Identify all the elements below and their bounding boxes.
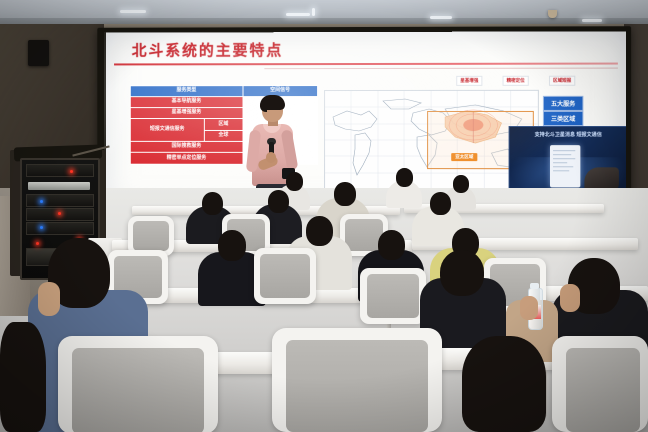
map-tag-top-1: 精密定位 xyxy=(503,76,529,86)
chair-front[interactable] xyxy=(58,336,218,432)
phone-icon xyxy=(550,145,580,187)
table-header-signal: 空间信号 xyxy=(243,86,318,97)
chair[interactable] xyxy=(360,268,426,324)
chair[interactable] xyxy=(254,248,316,304)
audience-head xyxy=(218,230,246,261)
audience-face xyxy=(560,284,580,312)
ceiling-light xyxy=(582,19,602,22)
audience-head xyxy=(440,250,484,296)
bottle-cap xyxy=(530,283,539,289)
audience-head xyxy=(430,192,451,215)
ceiling-light xyxy=(120,10,146,13)
audience-hand xyxy=(520,296,538,320)
projection-screen: 北斗系统的主要特点 服务类型 空间信号 基本导航服务 3IGSO+3GEO 星基… xyxy=(106,31,626,212)
audience-head xyxy=(396,168,413,187)
map-region-tag: 亚太区域 xyxy=(451,153,477,161)
rack-panel xyxy=(28,182,90,190)
cell-service: 国际搜救服务 xyxy=(130,141,242,152)
ceiling-light xyxy=(286,13,310,16)
ceiling-light xyxy=(312,8,315,16)
slide-badge-0: 五大服务 xyxy=(543,96,583,111)
cell-subservice: 区域 xyxy=(204,119,243,130)
cell-service: 短报文通信服务 xyxy=(130,119,204,142)
map-tag-top-2: 区域短报 xyxy=(549,76,575,86)
cell-service: 星基增强服务 xyxy=(130,108,242,119)
audience-head-front xyxy=(0,322,46,432)
rack-led-red xyxy=(36,242,39,245)
cell-subservice: 全球 xyxy=(204,130,243,141)
chair-front[interactable] xyxy=(552,336,648,432)
title-divider-secondary xyxy=(264,68,618,70)
presenter-hair-side xyxy=(260,100,267,112)
cell-service: 精密单点定位服务 xyxy=(130,153,242,164)
ceiling-dome-light xyxy=(548,10,557,18)
table-header-row: 服务类型 空间信号 xyxy=(130,86,317,97)
chair-front[interactable] xyxy=(272,328,442,432)
cell-service: 基本导航服务 xyxy=(130,96,242,107)
map-tag-top-0: 星基增强 xyxy=(456,76,482,86)
rack-led-blue xyxy=(40,200,43,203)
photo-panel-caption: 支持北斗卫星消息 短报文通信 xyxy=(510,131,626,138)
table-header-service: 服务类型 xyxy=(130,86,242,97)
rack-led-red xyxy=(58,212,61,215)
rack-led-blue xyxy=(40,226,43,229)
audience-head xyxy=(286,172,303,191)
presenter-hand xyxy=(266,152,276,163)
wall-speaker-icon xyxy=(28,40,49,66)
slide-badge-1: 三类区域 xyxy=(543,111,583,126)
audience-head xyxy=(378,230,405,260)
rack-led-red xyxy=(70,170,73,173)
audience-head-front xyxy=(462,336,546,432)
audience-head xyxy=(453,175,469,193)
title-divider xyxy=(114,63,618,66)
audience-head xyxy=(202,192,223,215)
ceiling-light xyxy=(430,16,452,19)
audience-head xyxy=(306,216,333,246)
audience-head xyxy=(268,190,289,213)
conference-room-photo: 北斗系统的主要特点 服务类型 空间信号 基本导航服务 3IGSO+3GEO 星基… xyxy=(0,0,648,432)
slide-title: 北斗系统的主要特点 xyxy=(132,39,283,60)
slide-world-map: 亚太区域 xyxy=(324,90,539,191)
audience-face-front xyxy=(38,282,60,316)
audience-head xyxy=(334,182,356,206)
